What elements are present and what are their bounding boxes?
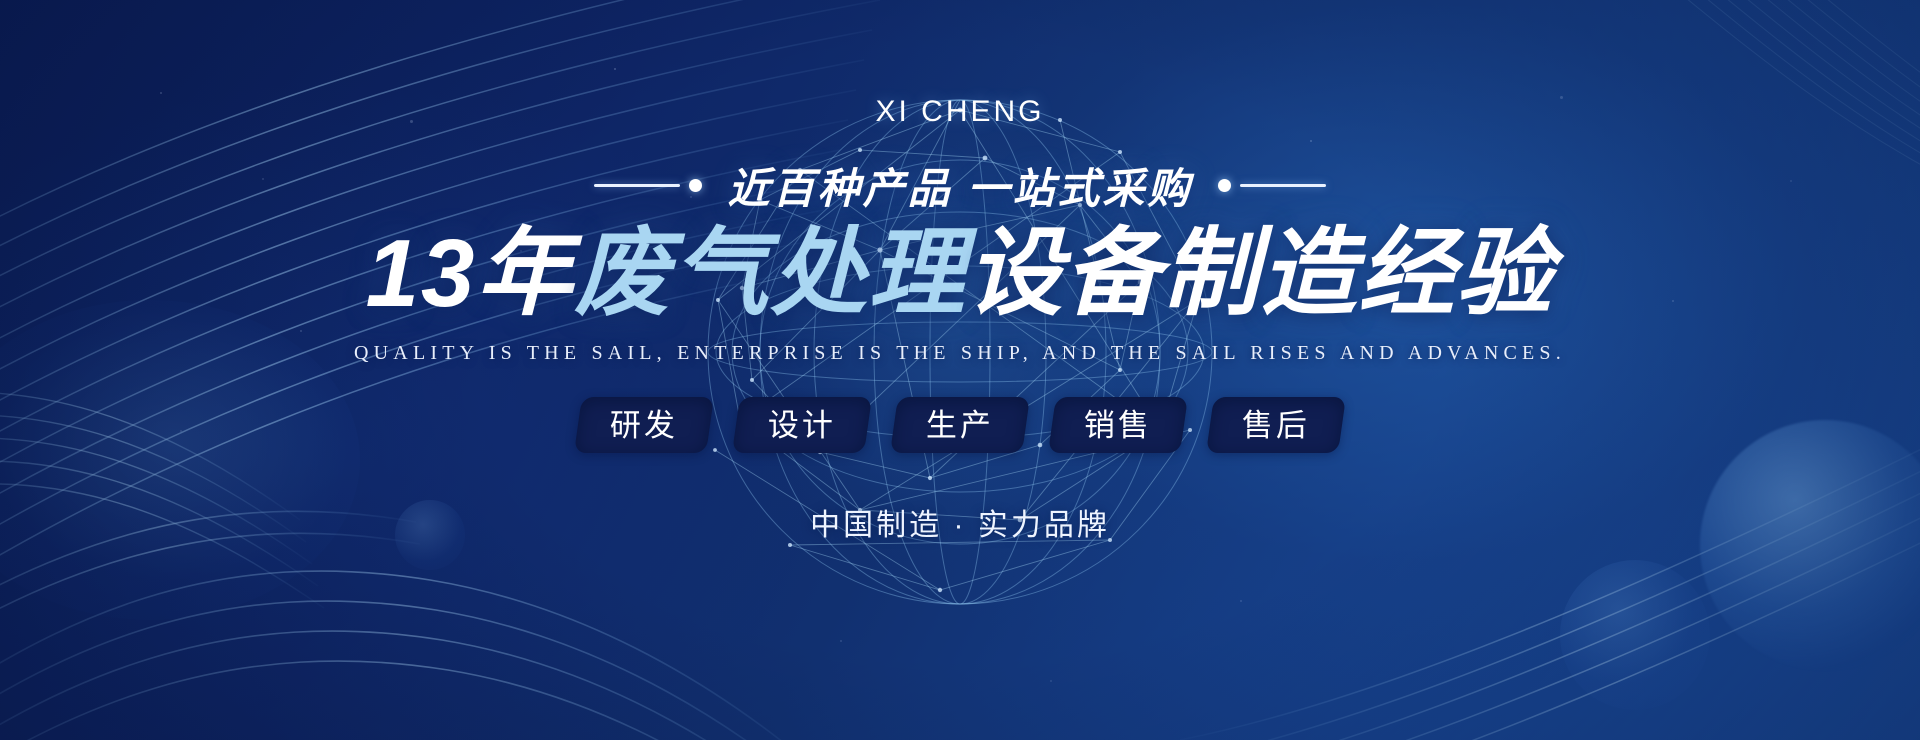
- rule-line: [1240, 184, 1326, 187]
- rule-dot: [1218, 179, 1231, 192]
- brand-name-en: XI CHENG: [875, 97, 1044, 127]
- pill-label: 设计: [768, 409, 836, 440]
- pill-label: 生产: [926, 409, 994, 440]
- headline-tail: 设备制造经验: [966, 220, 1554, 327]
- service-pill-shengchan[interactable]: 生产: [890, 397, 1030, 453]
- service-pill-list: 研发 设计 生产 销售 售后: [578, 397, 1342, 453]
- pill-label: 研发: [610, 409, 678, 440]
- left-rule-decoration: [594, 179, 702, 192]
- service-pill-yanfa[interactable]: 研发: [574, 397, 714, 453]
- headline-accent: 废气处理: [574, 220, 966, 327]
- banner-content: XI CHENG 近百种产品 一站式采购 13年废气处理设备制造经验 QUALI…: [0, 0, 1920, 740]
- service-pill-shouhou[interactable]: 售后: [1206, 397, 1346, 453]
- service-pill-sheji[interactable]: 设计: [732, 397, 872, 453]
- rule-dot: [689, 179, 702, 192]
- page-title: 13年废气处理设备制造经验: [366, 220, 1555, 328]
- pill-label: 销售: [1084, 409, 1152, 440]
- subtitle-row: 近百种产品 一站式采购: [594, 158, 1327, 212]
- service-pill-xiaoshou[interactable]: 销售: [1048, 397, 1188, 453]
- pill-label: 售后: [1242, 409, 1310, 440]
- banner-subtitle: 近百种产品 一站式采购: [728, 155, 1193, 216]
- rule-line: [594, 184, 680, 187]
- hero-banner: XI CHENG 近百种产品 一站式采购 13年废气处理设备制造经验 QUALI…: [0, 0, 1920, 740]
- english-tagline: QUALITY IS THE SAIL, ENTERPRISE IS THE S…: [354, 342, 1566, 365]
- banner-footnote: 中国制造 · 实力品牌: [810, 500, 1110, 544]
- headline-lead: 13年: [366, 220, 575, 327]
- right-rule-decoration: [1218, 179, 1326, 192]
